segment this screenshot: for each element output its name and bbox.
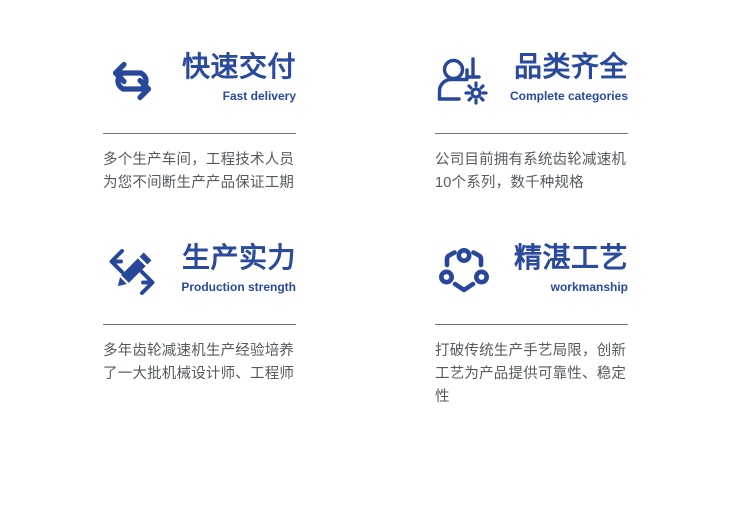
card-body-text: 打破传统生产手艺局限，创新工艺为产品提供可靠性、稳定性 [435, 340, 640, 409]
card-title-block: 快速交付 Fast delivery [163, 48, 296, 105]
card-title-en: Fast delivery [223, 87, 296, 105]
card-body-text: 多个生产车间，工程技术人员为您不间断生产产品保证工期 [103, 149, 308, 195]
card-title-en: Complete categories [510, 87, 628, 105]
loop-arrows-icon [101, 48, 163, 114]
card-title-en: Production strength [181, 278, 296, 296]
card-title-block: 生产实力 Production strength [163, 239, 296, 296]
card-body-text: 公司目前拥有系统齿轮减速机10个系列，数千种规格 [435, 149, 640, 195]
card-divider [103, 324, 296, 325]
card-title-cn: 快速交付 [182, 50, 296, 83]
worker-gear-icon [433, 48, 495, 114]
card-title-block: 精湛工艺 workmanship [495, 239, 628, 296]
feature-card-production-strength: 生产实力 Production strength 多年齿轮减速机生产经验培养了一… [103, 239, 296, 409]
card-divider [435, 133, 628, 134]
card-header: 品类齐全 Complete categories [433, 48, 628, 120]
card-title-cn: 品类齐全 [514, 50, 628, 83]
card-divider [103, 133, 296, 134]
card-header: 快速交付 Fast delivery [101, 48, 296, 120]
card-title-block: 品类齐全 Complete categories [495, 48, 628, 105]
card-body-text: 多年齿轮减速机生产经验培养了一大批机械设计师、工程师 [103, 340, 308, 386]
card-title-cn: 生产实力 [182, 241, 296, 274]
pencil-ruler-icon [101, 239, 163, 305]
card-title-en: workmanship [551, 278, 628, 296]
feature-card-fast-delivery: 快速交付 Fast delivery 多个生产车间，工程技术人员为您不间断生产产… [103, 48, 296, 195]
features-board: 快速交付 Fast delivery 多个生产车间，工程技术人员为您不间断生产产… [0, 0, 750, 505]
card-divider [435, 324, 628, 325]
hexagon-nodes-icon [433, 239, 495, 305]
card-header: 生产实力 Production strength [101, 239, 296, 311]
card-header: 精湛工艺 workmanship [433, 239, 628, 311]
card-title-cn: 精湛工艺 [514, 241, 628, 274]
feature-card-workmanship: 精湛工艺 workmanship 打破传统生产手艺局限，创新工艺为产品提供可靠性… [435, 239, 628, 409]
feature-card-complete-categories: 品类齐全 Complete categories 公司目前拥有系统齿轮减速机10… [435, 48, 628, 195]
features-grid: 快速交付 Fast delivery 多个生产车间，工程技术人员为您不间断生产产… [103, 48, 650, 409]
